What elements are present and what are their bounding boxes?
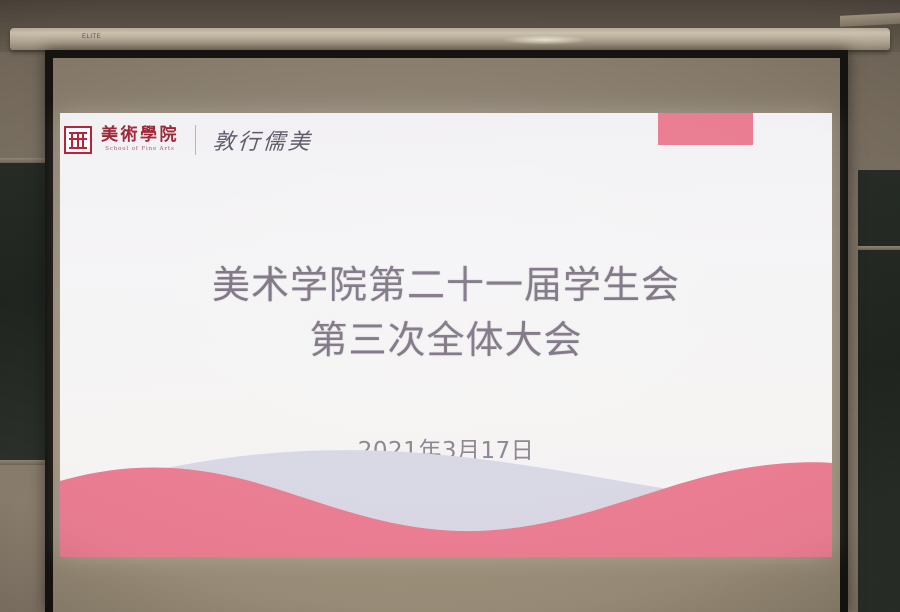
institution-name-block: 美術學院 School of Fine Arts — [101, 127, 179, 152]
presentation-slide: 美術學院 School of Fine Arts 敦行儒美 美术学院第二十一届学… — [60, 113, 832, 557]
slide-title-line-2: 第三次全体大会 — [60, 313, 832, 368]
projector-screen-case: ELITE — [10, 28, 890, 50]
ceiling-light-glow — [490, 34, 600, 46]
decorative-waves — [60, 437, 832, 557]
chalkboard-right — [858, 170, 900, 612]
logo-divider — [195, 125, 196, 155]
chalkboard-left — [0, 162, 46, 462]
institution-name-en: School of Fine Arts — [105, 147, 174, 152]
motto-calligraphy: 敦行儒美 — [212, 124, 314, 156]
chalk-rail-left-bottom — [0, 460, 46, 465]
slide-title-line-1: 美术学院第二十一届学生会 — [60, 258, 832, 313]
chalk-rail-left-top — [0, 158, 46, 163]
institution-name-cn: 美術學院 — [101, 127, 179, 144]
screen-case-label: ELITE — [82, 34, 101, 40]
chalk-rail-right — [858, 246, 900, 250]
classroom-projection-photo: ELITE 美術學院 School of Fine Arts 敦行儒美 美术学院… — [0, 0, 900, 612]
header-accent-rectangle — [658, 113, 753, 145]
school-seal-icon — [64, 126, 92, 154]
slide-header-logo: 美術學院 School of Fine Arts 敦行儒美 — [64, 118, 313, 162]
slide-title: 美术学院第二十一届学生会 第三次全体大会 — [60, 258, 832, 368]
